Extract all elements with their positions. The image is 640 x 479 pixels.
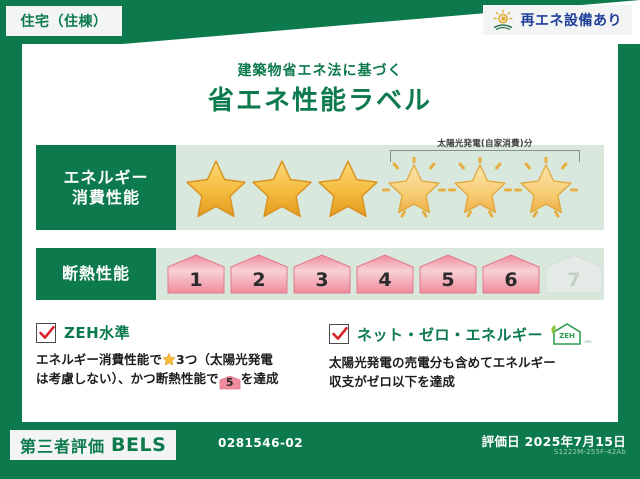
insulation-grade-label: 5 [441,269,454,291]
certification-checks: ZEH水準 エネルギー消費性能で3つ（太陽光発電 は考慮しない）、かつ断熱性能で… [36,322,604,412]
zeh-desc-line2-part1: は考慮しない）、かつ断熱性能で [36,371,219,386]
star-icon-solar [448,157,512,219]
star-icon-filled [184,157,248,219]
zeh-check-title: ZEH水準 [64,322,130,343]
insulation-grade-badge-inactive: 7 [544,253,604,295]
star-icon-filled [250,157,314,219]
zeh-house-logo-icon: ZEH ZEH [547,322,593,346]
insulation-grade-label: 2 [252,269,265,291]
label-footer: 第三者評価 BELS 0281546-02 評価日 2025年7月15日 S12… [0,422,640,479]
inline-grade-badge: 5 [219,375,241,390]
energy-performance-value: 太陽光発電(自家消費)分 [176,145,604,230]
check-icon [38,324,56,342]
zeh-check-description: エネルギー消費性能で3つ（太陽光発電 は考慮しない）、かつ断熱性能で5を達成 [36,350,311,390]
insulation-grade-label: 6 [504,269,517,291]
bels-evaluation-box: 第三者評価 BELS [10,430,176,460]
insulation-grade-label: 7 [567,269,580,291]
insulation-key-label: 断熱性能 [62,264,130,284]
nze-check-description: 太陽光発電の売電分も含めてエネルギー 収支がゼロ以下を達成 [329,353,604,392]
zeh-desc-line2-part2: を達成 [241,371,279,386]
bels-number: 0281546-02 [218,436,303,450]
nze-checkbox[interactable] [329,324,349,344]
insulation-grade-badge: 5 [418,253,478,295]
insulation-grade-label: 4 [378,269,391,291]
building-type-tab: 住宅（住棟） [6,6,122,36]
svg-text:ZEH: ZEH [585,340,592,344]
solar-annotation-label: 太陽光発電(自家消費)分 [390,137,580,149]
star-icon-filled [316,157,380,219]
solar-annotation: 太陽光発電(自家消費)分 [390,137,580,162]
inline-grade-label: 5 [226,376,234,389]
insulation-grade-label: 3 [315,269,328,291]
zeh-standard-check: ZEH水準 エネルギー消費性能で3つ（太陽光発電 は考慮しない）、かつ断熱性能で… [36,322,311,412]
building-type-label: 住宅（住棟） [21,11,108,31]
page-title: 省エネ性能ラベル [0,80,640,117]
star-rating [176,157,604,219]
star-icon-solar [382,157,446,219]
zeh-desc-part2: 3つ（太陽光発電 [176,352,273,367]
solar-bracket [390,150,580,162]
star-icon-inline [162,352,176,366]
energy-performance-label: 住宅（住棟） 再エネ設備あり 建築物省エネ法に基づく 省エネ性能ラベル エネルギ… [0,0,640,479]
nze-desc-line2: 収支がゼロ以下を達成 [329,374,455,389]
energy-performance-row: エネルギー 消費性能 太陽光発電(自家消費)分 [36,145,604,230]
energy-key-line1: エネルギー [63,168,148,188]
insulation-grade-badge: 2 [229,253,289,295]
insulation-grade-badge: 6 [481,253,541,295]
renewable-badge-label: 再エネ設備あり [521,10,623,30]
nze-check-title: ネット・ゼロ・エネルギー [357,324,543,345]
insulation-grade-badge: 4 [355,253,415,295]
sun-icon [491,9,515,31]
insulation-grade-scale: 1 2 3 4 5 [156,253,604,295]
nze-check-header: ネット・ゼロ・エネルギー ZEH ZEH [329,322,604,346]
insulation-grade-badge: 3 [292,253,352,295]
star-icon-solar [514,157,578,219]
evaluation-code: S1222M-255F-42Ab [554,448,626,456]
insulation-grade-badge: 1 [166,253,226,295]
net-zero-energy-check: ネット・ゼロ・エネルギー ZEH ZEH 太陽光発電の売電分も含めてエネルギー … [329,322,604,412]
check-icon [331,325,349,343]
bels-jp-label: 第三者評価 [20,433,105,457]
renewable-energy-badge: 再エネ設備あり [483,5,633,35]
nze-desc-line1: 太陽光発電の売電分も含めてエネルギー [329,355,556,370]
energy-performance-key: エネルギー 消費性能 [36,145,176,230]
svg-text:ZEH: ZEH [559,332,575,340]
insulation-performance-row: 断熱性能 1 2 3 4 [36,248,604,300]
zeh-desc-part1: エネルギー消費性能で [36,352,162,367]
label-subtitle: 建築物省エネ法に基づく [0,60,640,80]
energy-key-line2: 消費性能 [72,188,140,208]
insulation-grade-label: 1 [189,269,202,291]
bels-en-label: BELS [111,434,166,456]
zeh-check-header: ZEH水準 [36,322,311,343]
insulation-performance-key: 断熱性能 [36,248,156,300]
insulation-performance-value: 1 2 3 4 5 [156,248,604,300]
zeh-checkbox[interactable] [36,323,56,343]
